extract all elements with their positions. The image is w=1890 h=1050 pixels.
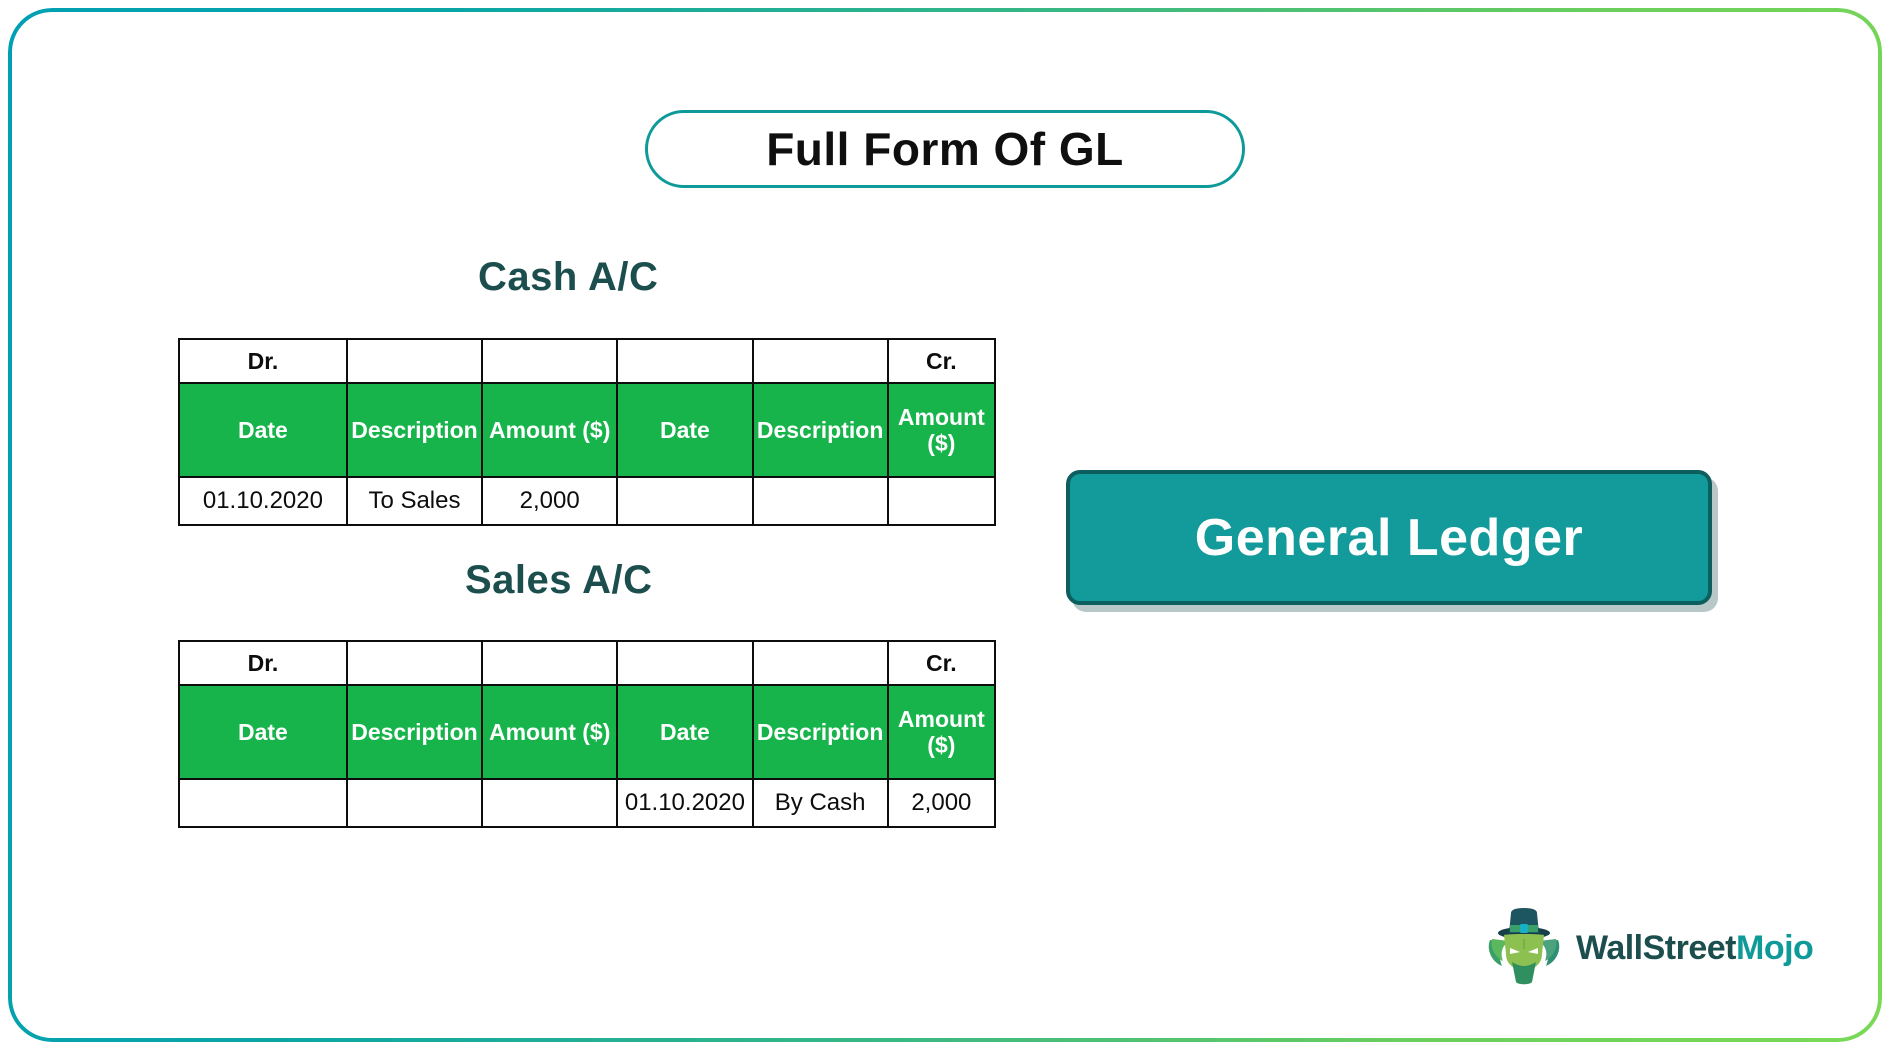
column-header-date-cr: Date (617, 685, 752, 779)
table-header-row: Date Description Amount ($) Date Descrip… (179, 383, 995, 477)
general-ledger-label: General Ledger (1195, 508, 1583, 568)
column-header-amount-cr: Amount ($) (888, 685, 995, 779)
sales-account-heading: Sales A/C (465, 558, 653, 603)
column-header-amount-dr: Amount ($) (482, 383, 617, 477)
slide-canvas: Full Form Of GL Cash A/C Dr. Cr. Date De… (0, 0, 1890, 1050)
column-header-date-dr: Date (179, 383, 347, 477)
column-header-amount-dr: Amount ($) (482, 685, 617, 779)
table-header-row: Date Description Amount ($) Date Descrip… (179, 685, 995, 779)
cash-account-heading: Cash A/C (478, 255, 658, 300)
wallstreetmojo-logo: WallStreetMojo (1482, 898, 1822, 998)
table-row: 01.10.2020 By Cash 2,000 (179, 779, 995, 827)
cell-date-dr (179, 779, 347, 827)
table-row-drcr: Dr. Cr. (179, 641, 995, 685)
spacer-cell (753, 339, 888, 383)
cell-amount-cr (888, 477, 995, 525)
table-row-drcr: Dr. Cr. (179, 339, 995, 383)
cell-amount-dr (482, 779, 617, 827)
logo-word-primary: WallStreet (1576, 929, 1736, 967)
spacer-cell (347, 641, 482, 685)
cell-date-cr (617, 477, 752, 525)
spacer-cell (347, 339, 482, 383)
sales-account-ledger-table: Dr. Cr. Date Description Amount ($) Date… (178, 640, 996, 828)
cell-description-cr: By Cash (753, 779, 888, 827)
cell-amount-cr: 2,000 (888, 779, 995, 827)
debit-label: Dr. (179, 641, 347, 685)
column-header-description-dr: Description (347, 685, 482, 779)
credit-label: Cr. (888, 339, 995, 383)
cash-account-ledger-table: Dr. Cr. Date Description Amount ($) Date… (178, 338, 996, 526)
page-title: Full Form Of GL (766, 122, 1124, 176)
column-header-description-dr: Description (347, 383, 482, 477)
spacer-cell (617, 339, 752, 383)
general-ledger-callout: General Ledger (1066, 470, 1712, 605)
cell-description-dr: To Sales (347, 477, 482, 525)
column-header-date-cr: Date (617, 383, 752, 477)
column-header-description-cr: Description (753, 685, 888, 779)
cell-date-cr: 01.10.2020 (617, 779, 752, 827)
column-header-description-cr: Description (753, 383, 888, 477)
column-header-amount-cr: Amount ($) (888, 383, 995, 477)
cell-description-dr (347, 779, 482, 827)
logo-wordmark: WallStreetMojo (1576, 929, 1813, 968)
cell-description-cr (753, 477, 888, 525)
credit-label: Cr. (888, 641, 995, 685)
cell-date-dr: 01.10.2020 (179, 477, 347, 525)
page-title-pill: Full Form Of GL (645, 110, 1245, 188)
spacer-cell (753, 641, 888, 685)
spacer-cell (482, 339, 617, 383)
bull-with-top-hat-icon (1482, 904, 1566, 993)
spacer-cell (617, 641, 752, 685)
logo-word-accent: Mojo (1736, 929, 1813, 967)
debit-label: Dr. (179, 339, 347, 383)
table-row: 01.10.2020 To Sales 2,000 (179, 477, 995, 525)
cell-amount-dr: 2,000 (482, 477, 617, 525)
column-header-date-dr: Date (179, 685, 347, 779)
spacer-cell (482, 641, 617, 685)
